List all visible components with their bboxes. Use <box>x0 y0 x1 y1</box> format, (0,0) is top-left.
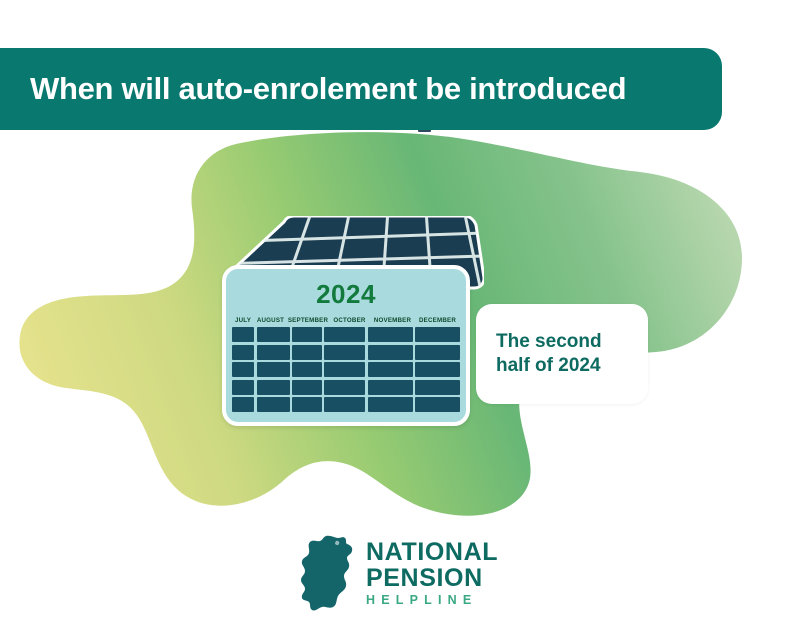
calendar-day-cell <box>232 362 254 377</box>
calendar-day-cell <box>257 345 290 360</box>
calendar-body: 2024 JULY AUGUST SEPTEMBER OCTOBER NOVEM… <box>222 265 470 426</box>
calendar-day-cell <box>368 327 413 342</box>
calendar-day-cell <box>257 397 290 412</box>
calendar-day-cell <box>415 327 460 342</box>
brand-logo: NATIONAL PENSION HELPLINE <box>296 533 526 615</box>
month-label-december: DECEMBER <box>415 317 460 324</box>
logo-wordmark: NATIONAL PENSION HELPLINE <box>366 539 498 608</box>
calendar-day-cell <box>257 327 290 342</box>
calendar-day-cell <box>368 397 413 412</box>
calendar-day-cell <box>415 380 460 395</box>
calendar-day-cell <box>324 397 365 412</box>
calendar-week-row <box>232 362 460 377</box>
calendar-day-cell <box>368 362 413 377</box>
month-label-september: SEPTEMBER <box>287 317 329 324</box>
answer-callout-box: The second half of 2024 <box>476 304 648 404</box>
calendar-day-cell <box>324 380 365 395</box>
calendar-day-cell <box>415 397 460 412</box>
calendar-day-cell <box>368 345 413 360</box>
calendar-day-cell <box>292 327 322 342</box>
calendar-day-cell <box>257 362 290 377</box>
calendar-day-cell <box>324 327 365 342</box>
calendar-day-cell <box>368 380 413 395</box>
calendar-day-cell <box>232 327 254 342</box>
page-title: When will auto-enrolement be introduced <box>0 71 626 107</box>
calendar-day-cell <box>292 397 322 412</box>
logo-line-helpline: HELPLINE <box>366 592 498 608</box>
calendar-grid <box>226 327 466 412</box>
calendar-month-header-row: JULY AUGUST SEPTEMBER OCTOBER NOVEMBER D… <box>226 317 466 324</box>
month-label-october: OCTOBER <box>329 317 370 324</box>
infographic-canvas: When will auto-enrolement be introduced <box>0 0 800 631</box>
ireland-map-icon <box>296 534 358 614</box>
calendar-day-cell <box>324 362 365 377</box>
calendar-day-cell <box>415 345 460 360</box>
month-label-august: AUGUST <box>254 317 287 324</box>
calendar-day-cell <box>292 345 322 360</box>
calendar-day-cell <box>324 345 365 360</box>
logo-line-national: NATIONAL <box>366 539 498 565</box>
calendar-week-row <box>232 345 460 360</box>
month-label-november: NOVEMBER <box>370 317 415 324</box>
calendar-day-cell <box>415 362 460 377</box>
calendar-illustration: 2024 JULY AUGUST SEPTEMBER OCTOBER NOVEM… <box>216 216 484 430</box>
calendar-day-cell <box>257 380 290 395</box>
calendar-week-row <box>232 397 460 412</box>
calendar-week-row <box>232 380 460 395</box>
logo-line-pension: PENSION <box>366 565 498 591</box>
calendar-day-cell <box>232 345 254 360</box>
calendar-day-cell <box>232 397 254 412</box>
calendar-day-cell <box>292 380 322 395</box>
month-label-july: JULY <box>232 317 254 324</box>
answer-callout-text: The second half of 2024 <box>476 330 648 379</box>
calendar-year-label: 2024 <box>226 281 466 307</box>
calendar-day-cell <box>292 362 322 377</box>
calendar-day-cell <box>232 380 254 395</box>
calendar-week-row <box>232 327 460 342</box>
header-banner: When will auto-enrolement be introduced <box>0 48 722 130</box>
